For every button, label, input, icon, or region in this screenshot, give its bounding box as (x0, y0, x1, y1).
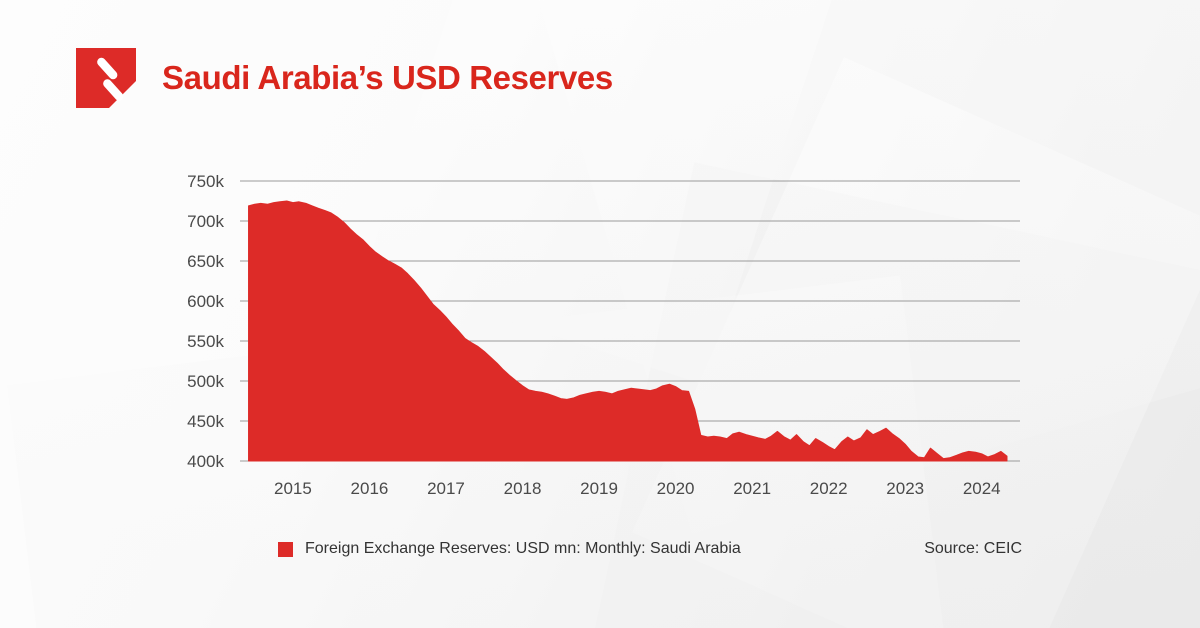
x-axis-tick-label: 2021 (733, 479, 771, 498)
x-axis-tick-label: 2016 (351, 479, 389, 498)
x-axis-tick-label: 2019 (580, 479, 618, 498)
x-axis-tick-label: 2024 (963, 479, 1001, 498)
x-axis-tick-label: 2020 (657, 479, 695, 498)
y-axis-tick-label: 550k (187, 332, 224, 351)
x-axis-tick-label: 2023 (886, 479, 924, 498)
x-axis-tick-label: 2018 (504, 479, 542, 498)
legend-label: Foreign Exchange Reserves: USD mn: Month… (305, 540, 741, 558)
series-layer (249, 201, 1007, 461)
x-axis-labels: 2015201620172018201920202021202220232024 (274, 479, 1001, 498)
x-axis-tick-label: 2015 (274, 479, 312, 498)
chart-footer: Foreign Exchange Reserves: USD mn: Month… (0, 540, 1200, 572)
source-label: Source: CEIC (924, 540, 1022, 558)
y-axis-tick-label: 400k (187, 452, 224, 471)
area-chart: 400k450k500k550k600k650k700k750k 2015201… (0, 0, 1200, 628)
y-axis-tick-label: 450k (187, 412, 224, 431)
x-axis-tick-label: 2017 (427, 479, 465, 498)
chart-area: 400k450k500k550k600k650k700k750k 2015201… (0, 0, 1200, 628)
infographic-card: Saudi Arabia’s USD Reserves 400k450k500k… (0, 0, 1200, 628)
legend-swatch (278, 542, 293, 557)
series-area (249, 201, 1007, 461)
y-axis-tick-label: 700k (187, 212, 224, 231)
y-axis-tick-label: 650k (187, 252, 224, 271)
y-axis-tick-label: 500k (187, 372, 224, 391)
y-axis-tick-label: 750k (187, 172, 224, 191)
x-axis-tick-label: 2022 (810, 479, 848, 498)
y-axis-tick-label: 600k (187, 292, 224, 311)
y-axis-labels: 400k450k500k550k600k650k700k750k (187, 172, 224, 471)
legend[interactable]: Foreign Exchange Reserves: USD mn: Month… (278, 540, 741, 558)
